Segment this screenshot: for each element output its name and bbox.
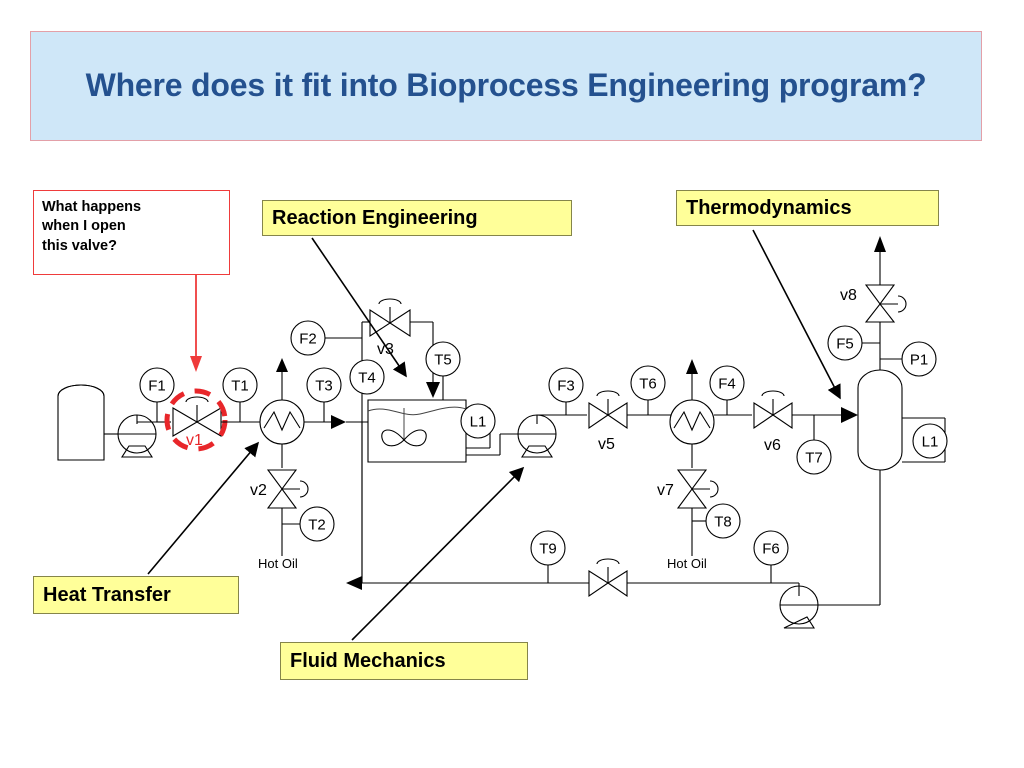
label-hot-oil-left: Hot Oil — [258, 556, 298, 571]
tag-label: F1 — [148, 378, 166, 395]
flow-arrow-into-reactor — [426, 382, 440, 398]
tag-label: T4 — [358, 370, 376, 387]
callout-thermodynamics-label: Thermodynamics — [686, 197, 852, 220]
callout-reaction-engineering: Reaction Engineering — [262, 200, 572, 236]
valve-label-v5: v5 — [598, 436, 615, 453]
separator-column — [858, 288, 902, 592]
question-leader-arrow — [190, 275, 202, 372]
valve-v6[interactable] — [754, 391, 792, 428]
valve-label-v1: v1 — [186, 432, 203, 449]
callout-heat-transfer: Heat Transfer — [33, 576, 239, 614]
flow-arrow-to-reactor — [331, 415, 346, 429]
instrument-T3: T3 — [307, 368, 341, 422]
heat-transfer-leader-arrow — [148, 443, 258, 574]
flow-arrow-recycle — [346, 576, 362, 590]
valve-v2[interactable] — [268, 470, 308, 556]
valve-label-v6: v6 — [764, 437, 781, 454]
tag-label: L1 — [922, 434, 939, 451]
recycle-valve[interactable] — [589, 559, 627, 596]
tag-label: L1 — [470, 414, 487, 431]
pump-2 — [518, 415, 556, 457]
feed-tank — [58, 385, 118, 460]
tag-label: F3 — [557, 378, 575, 395]
tag-label: T2 — [308, 517, 326, 534]
instrument-F4: F4 — [710, 366, 744, 415]
instrument-F2: F2 — [291, 321, 362, 355]
thermodynamics-leader-arrow — [753, 230, 840, 398]
instrument-T8: T8 — [692, 504, 740, 538]
slide-canvas: Where does it fit into Bioprocess Engine… — [0, 0, 1024, 768]
pump-1 — [118, 415, 156, 457]
valve-label-v7: v7 — [657, 482, 674, 499]
instrument-F6: F6 — [754, 531, 788, 583]
instrument-F1: F1 — [140, 368, 174, 422]
instrument-T1: T1 — [223, 368, 257, 422]
label-hot-oil-right: Hot Oil — [667, 556, 707, 571]
instrument-T4: T4 — [350, 360, 384, 394]
tag-label: F2 — [299, 331, 317, 348]
tag-label: F5 — [836, 336, 854, 353]
tag-label: T9 — [539, 541, 557, 558]
instrument-F5: F5 — [828, 326, 880, 360]
reaction-leader-arrow — [312, 238, 406, 376]
tag-label: T8 — [714, 514, 732, 531]
instrument-F3: F3 — [549, 368, 583, 415]
callout-thermodynamics: Thermodynamics — [676, 190, 939, 226]
callout-reaction-label: Reaction Engineering — [272, 207, 478, 230]
instrument-T2: T2 — [282, 507, 334, 541]
valve-label-v8: v8 — [840, 287, 857, 304]
pump-3 — [780, 586, 818, 628]
valve-label-v2: v2 — [250, 482, 267, 499]
tag-label: P1 — [910, 352, 928, 369]
heat-exchanger-2 — [670, 359, 714, 468]
valve-v8[interactable] — [866, 236, 906, 322]
callout-heat-transfer-label: Heat Transfer — [43, 584, 171, 607]
callout-question-line2: when I open — [42, 217, 141, 236]
tag-label: F6 — [762, 541, 780, 558]
callout-question-line3: this valve? — [42, 237, 141, 256]
callout-question: What happens when I open this valve? — [33, 190, 230, 275]
tag-label: T3 — [315, 378, 333, 395]
tag-label: T1 — [231, 378, 249, 395]
instrument-L1-column: L1 — [902, 418, 947, 462]
callout-fluid-mechanics: Fluid Mechanics — [280, 642, 528, 680]
instrument-T6: T6 — [631, 366, 665, 415]
flow-arrow-to-column — [841, 407, 858, 423]
callout-fluid-mechanics-label: Fluid Mechanics — [290, 650, 446, 673]
tag-label: T7 — [805, 450, 823, 467]
valve-v3[interactable] — [370, 299, 410, 336]
valve-v5[interactable] — [589, 391, 627, 428]
tag-label: T5 — [434, 352, 452, 369]
instrument-T9: T9 — [531, 531, 565, 583]
callout-question-line1: What happens — [42, 198, 141, 217]
valve-v1[interactable] — [173, 397, 221, 436]
tag-label: T6 — [639, 376, 657, 393]
tag-label: F4 — [718, 376, 736, 393]
instrument-T7: T7 — [797, 415, 831, 474]
reactor — [368, 400, 466, 462]
fluid-mechanics-leader-arrow — [352, 468, 523, 640]
heat-exchanger-1 — [260, 358, 304, 468]
